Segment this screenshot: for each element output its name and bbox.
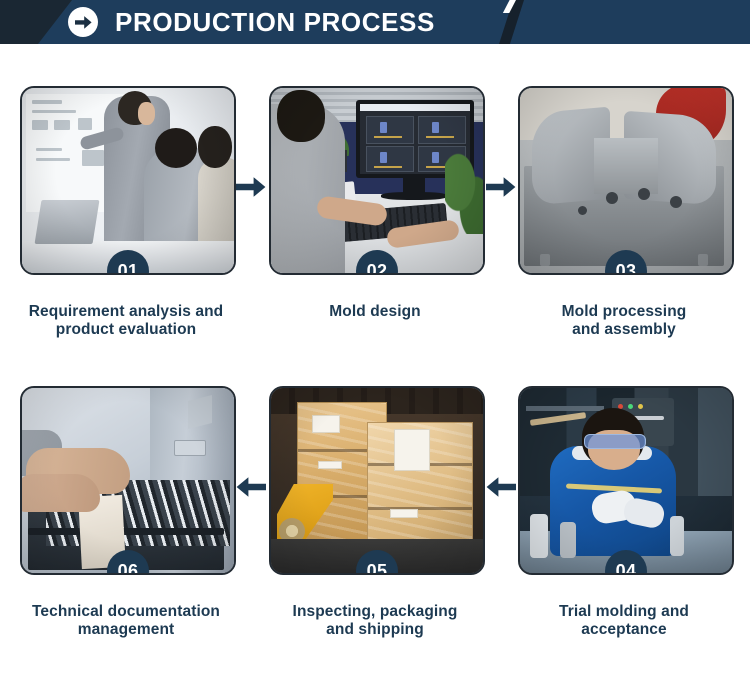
arrow-left-icon [234,472,268,502]
step-image-card[interactable]: 03 [518,86,734,275]
page-header-banner: PRODUCTION PROCESS [0,0,750,44]
step-caption-line-1: Inspecting, packaging [293,603,458,620]
step-image-card[interactable]: 05 [269,386,485,575]
cad-workstation-photo [271,88,483,273]
step-image-card[interactable]: 02 [269,86,485,275]
filing-cabinet-photo [22,388,234,573]
process-step-02[interactable]: 02 Mold design [269,86,481,321]
step-caption-line-2: and assembly [518,321,730,339]
step-caption-line-1: Technical documentation [32,603,220,620]
process-step-01[interactable]: 01 Requirement analysis and product eval… [20,86,232,339]
step-image-card[interactable]: 01 [20,86,236,275]
arrow-right-icon [234,172,268,202]
step-caption: Inspecting, packaging and shipping [269,603,481,639]
step-caption: Requirement analysis and product evaluat… [20,303,232,339]
step-image-card[interactable]: 06 [20,386,236,575]
step-caption-line-2: management [20,621,232,639]
process-step-06[interactable]: 06 Technical documentation management [20,386,232,639]
arrow-right-icon [484,172,518,202]
process-step-05[interactable]: 05 Inspecting, packaging and shipping [269,386,481,639]
page-title: PRODUCTION PROCESS [115,3,435,41]
step-caption-line-1: Trial molding and [559,603,689,620]
process-step-03[interactable]: 03 Mold processing and assembly [518,86,730,339]
process-steps-grid: 01 Requirement analysis and product eval… [0,50,750,650]
step-caption-line-2: and shipping [269,621,481,639]
arrow-right-circle-icon [68,7,98,37]
arrow-left-icon [484,472,518,502]
step-caption: Technical documentation management [20,603,232,639]
step-caption: Mold processing and assembly [518,303,730,339]
step-caption-line-1: Mold processing [562,303,687,320]
step-caption: Mold design [269,303,481,321]
process-row-bottom: 06 Technical documentation management [0,350,750,650]
step-caption-line-2: product evaluation [20,321,232,339]
process-row-top: 01 Requirement analysis and product eval… [0,50,750,350]
trial-molding-worker-photo [520,388,732,573]
steel-mold-photo [520,88,732,273]
step-caption-line-1: Mold design [329,303,421,320]
warehouse-pallets-photo [271,388,483,573]
step-caption: Trial molding and acceptance [518,603,730,639]
process-step-04[interactable]: 04 Trial molding and acceptance [518,386,730,639]
step-caption-line-2: acceptance [518,621,730,639]
step-caption-line-1: Requirement analysis and [29,303,224,320]
step-image-card[interactable]: 04 [518,386,734,575]
meeting-whiteboard-photo [22,88,234,273]
